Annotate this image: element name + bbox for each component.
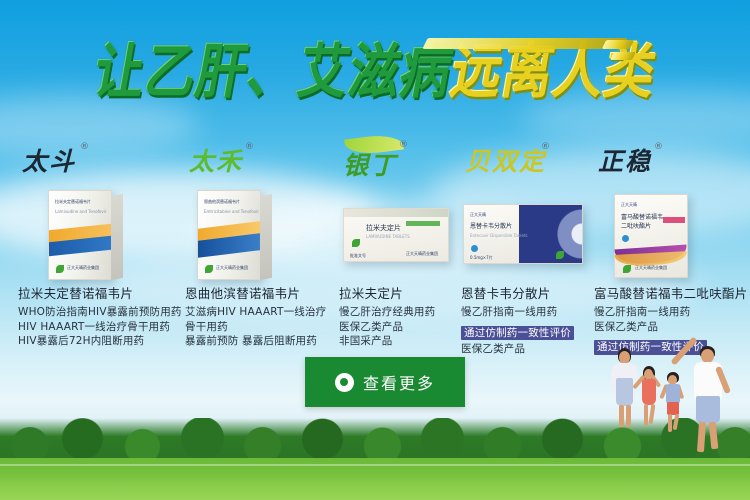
- product-list: 太斗 ® 拉米夫定替诺福韦片 Lamivudine and Tenofovir …: [0, 140, 750, 330]
- brand-name: 贝双定: [465, 142, 546, 178]
- product-card-yinding[interactable]: 银丁 ® 拉米夫定片 LAMIVUDINE TABLETS 批准文号 正大天晴药…: [337, 140, 457, 349]
- registered-mark-icon: ®: [245, 142, 254, 152]
- product-carton: 拉米夫定片 LAMIVUDINE TABLETS 批准文号 正大天晴药业集团: [343, 208, 449, 262]
- product-bullet: 医保乙类产品: [339, 320, 457, 335]
- product-bullet: HIV HAAART一线治疗骨干用药: [18, 320, 188, 335]
- product-image-taidou: 拉米夫定替诺福韦片 Lamivudine and Tenofovir 正大天晴药…: [16, 186, 188, 282]
- registered-mark-icon: ®: [399, 140, 408, 150]
- product-carton: 恩曲他滨替诺福韦片 Emtricitabine and Tenofovir 正大…: [197, 190, 261, 280]
- brand-logo-zhengwen: 正稳 ®: [592, 140, 750, 186]
- carton-side-face: [260, 194, 272, 281]
- product-bullet: 艾滋病HIV HAAART一线治疗: [185, 305, 333, 320]
- product-card-taihe[interactable]: 太禾 ® 恩曲他滨替诺福韦片 Emtricitabine and Tenofov…: [183, 140, 333, 349]
- headline-streak-decoration: [602, 40, 634, 49]
- family-photo-group: [612, 330, 750, 470]
- carton-side-face: [111, 194, 123, 281]
- product-bullet: WHO防治指南HIV暴露前预防用药: [18, 305, 188, 320]
- brand-name: 正稳: [598, 142, 652, 178]
- product-title: 恩曲他滨替诺福韦片: [185, 286, 333, 302]
- product-card-beishuangding[interactable]: 贝双定 ® 正大天晴 恩替卡韦分散片 Entecavir Dispersible…: [459, 140, 589, 357]
- product-title: 拉米夫定片: [339, 286, 457, 302]
- product-bullet: 慢乙肝指南一线用药: [461, 305, 589, 320]
- product-bullet: 暴露前预防 暴露后阻断用药: [185, 334, 333, 349]
- product-image-taihe: 恩曲他滨替诺福韦片 Emtricitabine and Tenofovir 正大…: [183, 186, 333, 282]
- view-more-button[interactable]: 查看更多: [305, 357, 465, 407]
- brand-logo-taihe: 太禾 ®: [183, 140, 333, 186]
- view-more-label: 查看更多: [363, 370, 435, 394]
- promo-banner: 让乙肝、艾滋病远离人类 太斗 ® 拉米夫定替诺福韦片 Lamivudine an…: [0, 0, 750, 500]
- headline-streak-decoration: [610, 52, 636, 60]
- product-bullet: 医保乙类产品: [461, 342, 589, 357]
- product-title: 恩替卡韦分散片: [461, 286, 589, 302]
- brand-name: 太斗: [22, 142, 76, 178]
- product-bullet: 骨干用药: [185, 320, 333, 335]
- registered-mark-icon: ®: [654, 142, 663, 152]
- product-image-yinding: 拉米夫定片 LAMIVUDINE TABLETS 批准文号 正大天晴药业集团: [337, 186, 457, 282]
- product-title: 富马酸替诺福韦二吡呋酯片: [594, 286, 750, 302]
- registered-mark-icon: ®: [541, 142, 550, 152]
- brand-name: 银丁: [343, 146, 397, 182]
- brand-logo-beishuangding: 贝双定 ®: [459, 140, 589, 186]
- product-bullet: HIV暴露后72H内阻断用药: [18, 334, 188, 349]
- product-image-zhengwen: 正大天晴 富马酸替诺福韦 二吡呋酯片 正大天晴药业集团: [592, 186, 750, 282]
- product-carton: 拉米夫定替诺福韦片 Lamivudine and Tenofovir 正大天晴药…: [48, 190, 112, 280]
- product-bullet-badge: 通过仿制药一致性评价: [461, 326, 574, 341]
- product-bullet: 慢乙肝治疗经典用药: [339, 305, 457, 320]
- banner-headline: 让乙肝、艾滋病远离人类: [0, 34, 750, 120]
- product-card-zhengwen[interactable]: 正稳 ® 正大天晴 富马酸替诺福韦 二吡呋酯片 正大天晴药业集团 富马酸替诺福韦…: [592, 140, 750, 357]
- product-image-beishuangding: 正大天晴 恩替卡韦分散片 Entecavir Dispersible Table…: [459, 186, 589, 282]
- headline-streak-decoration: [422, 38, 627, 49]
- brand-logo-taidou: 太斗 ®: [16, 140, 188, 186]
- product-title: 拉米夫定替诺福韦片: [18, 286, 188, 302]
- brand-name: 太禾: [189, 142, 243, 178]
- brand-logo-yinding: 银丁 ®: [337, 140, 457, 186]
- headline-green-text: 让乙肝、艾滋病: [87, 27, 460, 117]
- eye-icon: [335, 373, 354, 392]
- product-card-taidou[interactable]: 太斗 ® 拉米夫定替诺福韦片 Lamivudine and Tenofovir …: [16, 140, 188, 349]
- product-carton: 正大天晴 恩替卡韦分散片 Entecavir Dispersible Table…: [463, 204, 583, 264]
- product-bullet: 非国采产品: [339, 334, 457, 349]
- product-carton: 正大天晴 富马酸替诺福韦 二吡呋酯片 正大天晴药业集团: [614, 194, 688, 278]
- registered-mark-icon: ®: [80, 142, 89, 152]
- product-bullet: 慢乙肝指南一线用药: [594, 305, 750, 320]
